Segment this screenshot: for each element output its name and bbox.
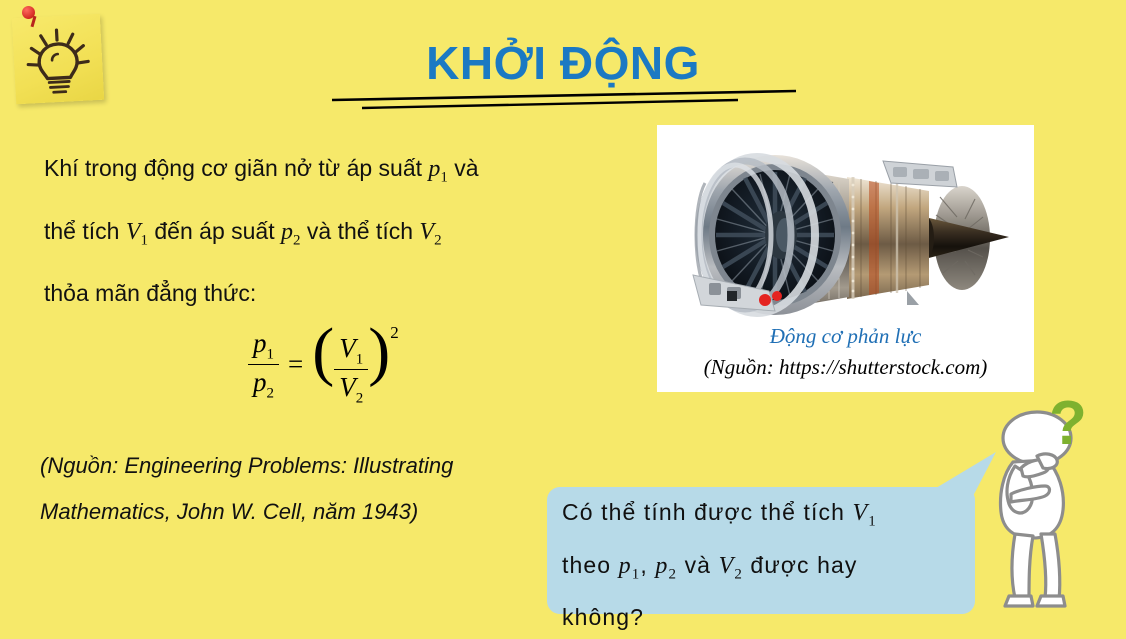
fraction-V1-V2: V1 V2 — [334, 333, 368, 408]
caption-source: (Nguồn: https://shutterstock.com) — [657, 351, 1034, 383]
problem-line-2: thể tích V1 đến áp suất p2 và thể tích V… — [44, 205, 624, 268]
equation: p1 p2 = ( V1 V2 ) 2 — [248, 322, 399, 408]
question-mark-icon: ? — [1049, 393, 1087, 455]
equals-sign: = — [288, 349, 303, 380]
paren-close: ) — [368, 322, 390, 383]
var-p2: p — [281, 219, 293, 245]
bubble-line-1: Có thể tính được thể tích V1 — [562, 491, 974, 544]
exponent: 2 — [390, 322, 399, 341]
thinking-person-figure — [985, 408, 1105, 628]
fraction-numerator: V1 — [334, 333, 368, 369]
parenthesized-fraction: ( V1 V2 ) 2 — [312, 322, 398, 408]
image-card: Động cơ phản lực (Nguồn: https://shutter… — [657, 125, 1034, 392]
fraction-denominator: p2 — [248, 364, 279, 402]
var-p1: p — [428, 156, 440, 182]
var-p2: p — [655, 553, 668, 579]
var-p1: p — [619, 553, 632, 579]
var-V2: V — [719, 553, 735, 579]
problem-statement: Khí trong động cơ giãn nở từ áp suất p1 … — [44, 142, 624, 320]
paren-open: ( — [312, 322, 334, 383]
fraction-numerator: p1 — [248, 328, 279, 364]
fraction-denominator: V2 — [334, 369, 368, 407]
speech-bubble: Có thể tính được thể tích V1 theo p1, p2… — [547, 487, 975, 614]
pushpin-icon — [22, 6, 35, 19]
source-citation: (Nguồn: Engineering Problems: Illustrati… — [40, 443, 620, 535]
bubble-line-3: không? — [562, 596, 974, 639]
var-V1: V — [853, 500, 869, 526]
image-caption: Động cơ phản lực (Nguồn: https://shutter… — [657, 321, 1034, 383]
var-V1: V — [126, 219, 141, 245]
problem-line-3: thỏa mãn đẳng thức: — [44, 267, 624, 320]
citation-line-1: (Nguồn: Engineering Problems: Illustrati… — [40, 443, 620, 489]
fraction-p1-p2: p1 p2 — [248, 328, 279, 403]
problem-line-1: Khí trong động cơ giãn nở từ áp suất p1 … — [44, 142, 624, 205]
var-V2: V — [419, 219, 434, 245]
citation-line-2: Mathematics, John W. Cell, năm 1943) — [40, 489, 620, 535]
page-title: KHỞI ĐỘNG — [0, 36, 1126, 90]
caption-title: Động cơ phản lực — [657, 321, 1034, 351]
speech-bubble-text: Có thể tính được thể tích V1 theo p1, p2… — [562, 491, 974, 639]
title-underline — [330, 88, 800, 110]
jet-engine-photo — [657, 125, 1034, 320]
bubble-line-2: theo p1, p2 và V2 được hay — [562, 544, 974, 597]
